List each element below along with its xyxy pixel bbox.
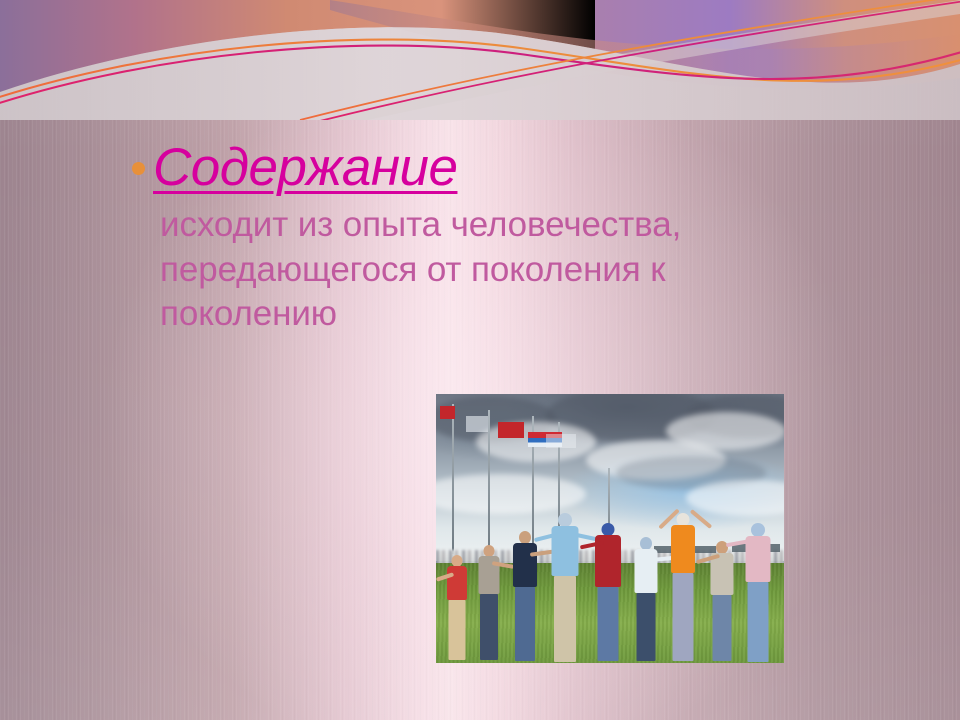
person-legs (480, 594, 498, 660)
person (668, 513, 698, 663)
person-head (751, 523, 765, 537)
person (548, 513, 582, 663)
flag (466, 416, 488, 432)
person-torso (671, 525, 695, 573)
person-legs (637, 593, 656, 661)
person-legs (673, 573, 694, 661)
flag (498, 422, 524, 438)
person (444, 555, 470, 663)
person-head (558, 513, 572, 527)
person-legs (449, 600, 466, 660)
person (632, 537, 660, 663)
person-legs (713, 595, 732, 661)
flag (440, 406, 455, 419)
title-row: Содержание (132, 140, 832, 196)
person (476, 545, 502, 663)
person-torso (635, 549, 658, 593)
slide-text-block: Содержание исходит из опыта человечества… (132, 140, 832, 336)
cloud (666, 412, 784, 450)
slide-title: Содержание (153, 140, 457, 196)
person-legs (554, 576, 576, 662)
presentation-slide: Содержание исходит из опыта человечества… (0, 0, 960, 720)
decorative-wave-banner (0, 0, 960, 120)
bullet-point-icon (132, 162, 145, 175)
person-torso (447, 566, 467, 600)
slide-body-text: исходит из опыта человечества, передающе… (160, 203, 780, 336)
person (592, 523, 624, 663)
person (742, 523, 774, 663)
person (510, 531, 540, 663)
person (708, 541, 736, 663)
person-legs (515, 587, 535, 661)
flag-pole (488, 410, 490, 556)
slide-photo (436, 394, 784, 663)
person-torso (513, 543, 537, 587)
flag (546, 434, 576, 448)
flag-pole (452, 404, 454, 554)
person-legs (748, 582, 769, 662)
person-legs (598, 587, 619, 661)
